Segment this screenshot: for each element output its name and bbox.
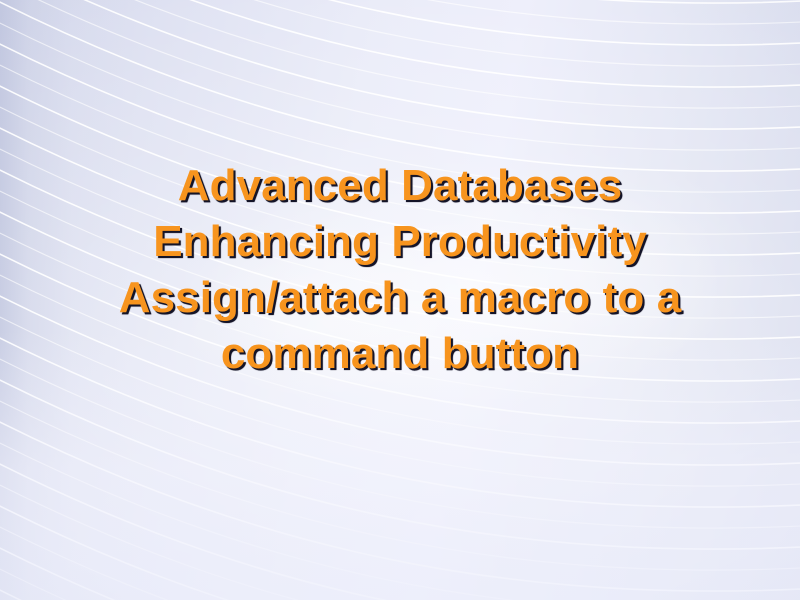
slide-title-line-2: Enhancing Productivity bbox=[24, 214, 776, 270]
presentation-slide: Advanced Databases Enhancing Productivit… bbox=[0, 0, 800, 600]
slide-title-line-4: command button bbox=[24, 326, 776, 382]
slide-title: Advanced Databases Enhancing Productivit… bbox=[0, 158, 800, 382]
slide-title-line-3: Assign/attach a macro to a bbox=[24, 270, 776, 326]
slide-title-line-1: Advanced Databases bbox=[24, 158, 776, 214]
